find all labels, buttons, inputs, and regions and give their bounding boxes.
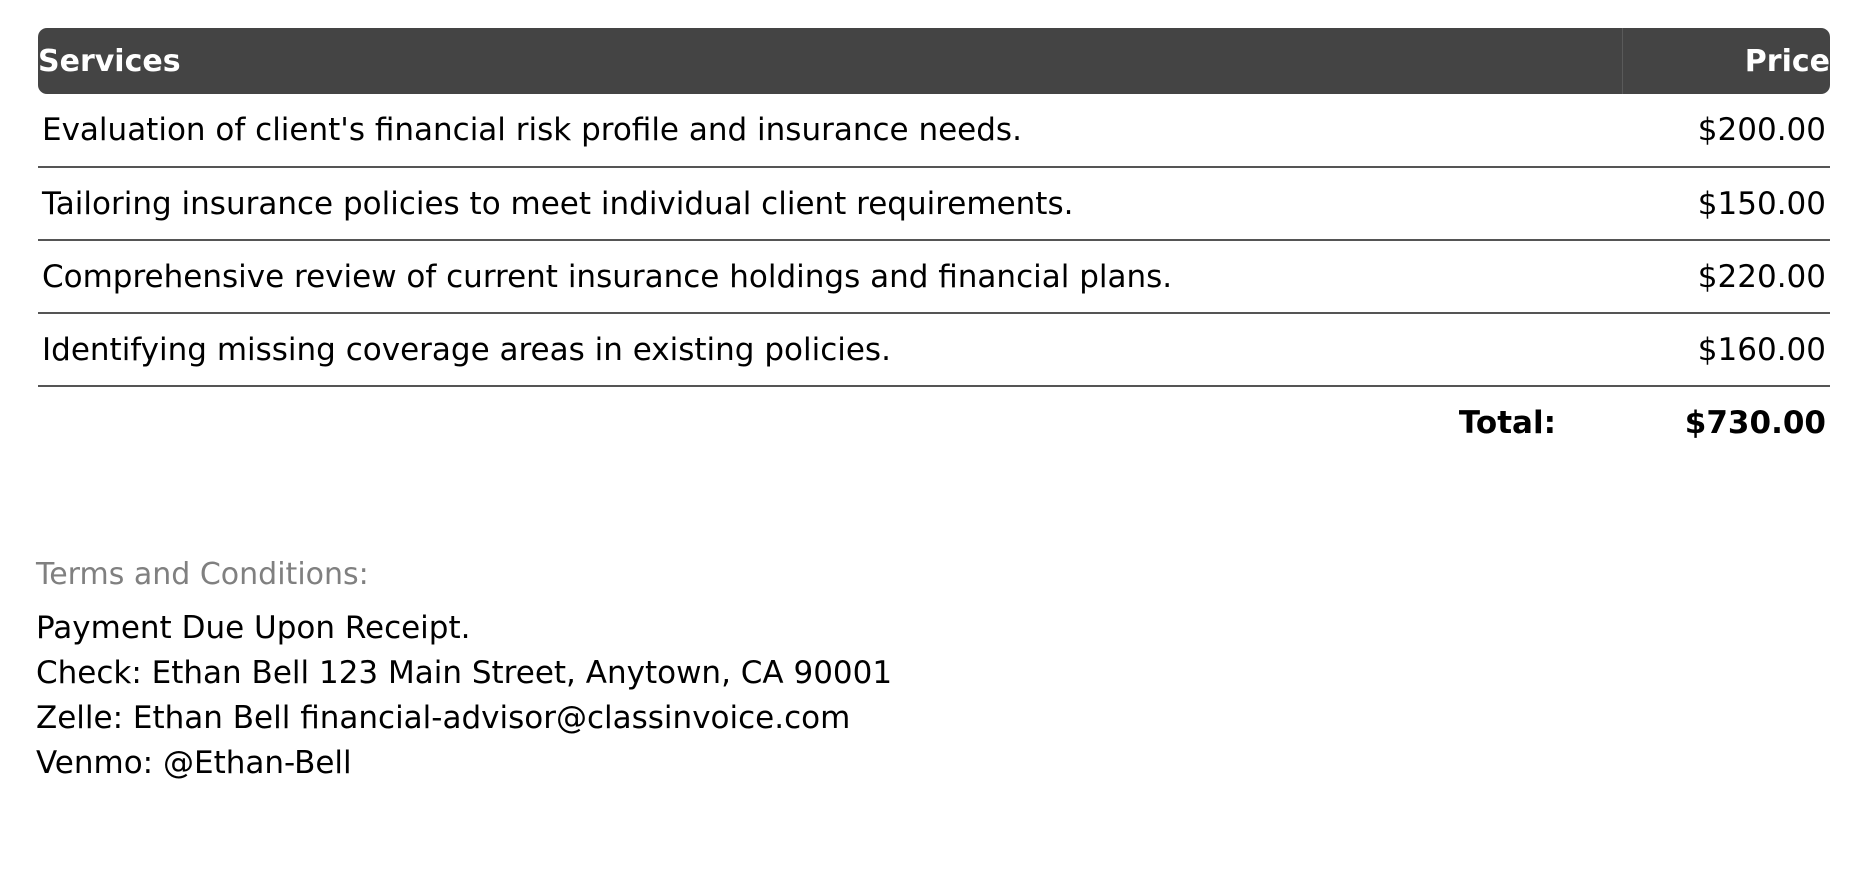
column-header-price: Price <box>1622 28 1830 94</box>
terms-line-payment-due: Payment Due Upon Receipt. <box>36 606 1536 651</box>
invoice-body: Services Price Evaluation of client's fi… <box>0 0 1868 870</box>
service-description: Comprehensive review of current insuranc… <box>38 240 1622 313</box>
table-row: Comprehensive review of current insuranc… <box>38 240 1830 313</box>
terms-and-conditions-section: Terms and Conditions: Payment Due Upon R… <box>36 560 1536 786</box>
table-header: Services Price <box>38 28 1830 94</box>
table-row: Evaluation of client's financial risk pr… <box>38 94 1830 167</box>
service-description: Evaluation of client's financial risk pr… <box>38 94 1622 167</box>
total-value: $730.00 <box>1622 386 1830 458</box>
total-row: Total: $730.00 <box>38 386 1830 458</box>
services-price-table: Services Price Evaluation of client's fi… <box>38 28 1830 458</box>
column-header-services: Services <box>38 28 1622 94</box>
service-price: $200.00 <box>1622 94 1830 167</box>
table-body: Evaluation of client's financial risk pr… <box>38 94 1830 458</box>
service-price: $220.00 <box>1622 240 1830 313</box>
service-description: Tailoring insurance policies to meet ind… <box>38 167 1622 240</box>
table-row: Tailoring insurance policies to meet ind… <box>38 167 1830 240</box>
terms-line-zelle: Zelle: Ethan Bell financial-advisor@clas… <box>36 696 1536 741</box>
table-row: Identifying missing coverage areas in ex… <box>38 313 1830 386</box>
service-description: Identifying missing coverage areas in ex… <box>38 313 1622 386</box>
total-label: Total: <box>38 386 1622 458</box>
terms-heading: Terms and Conditions: <box>36 560 1536 590</box>
service-price: $150.00 <box>1622 167 1830 240</box>
terms-line-check: Check: Ethan Bell 123 Main Street, Anyto… <box>36 651 1536 696</box>
table-header-row: Services Price <box>38 28 1830 94</box>
service-price: $160.00 <box>1622 313 1830 386</box>
terms-line-venmo: Venmo: @Ethan-Bell <box>36 741 1536 786</box>
